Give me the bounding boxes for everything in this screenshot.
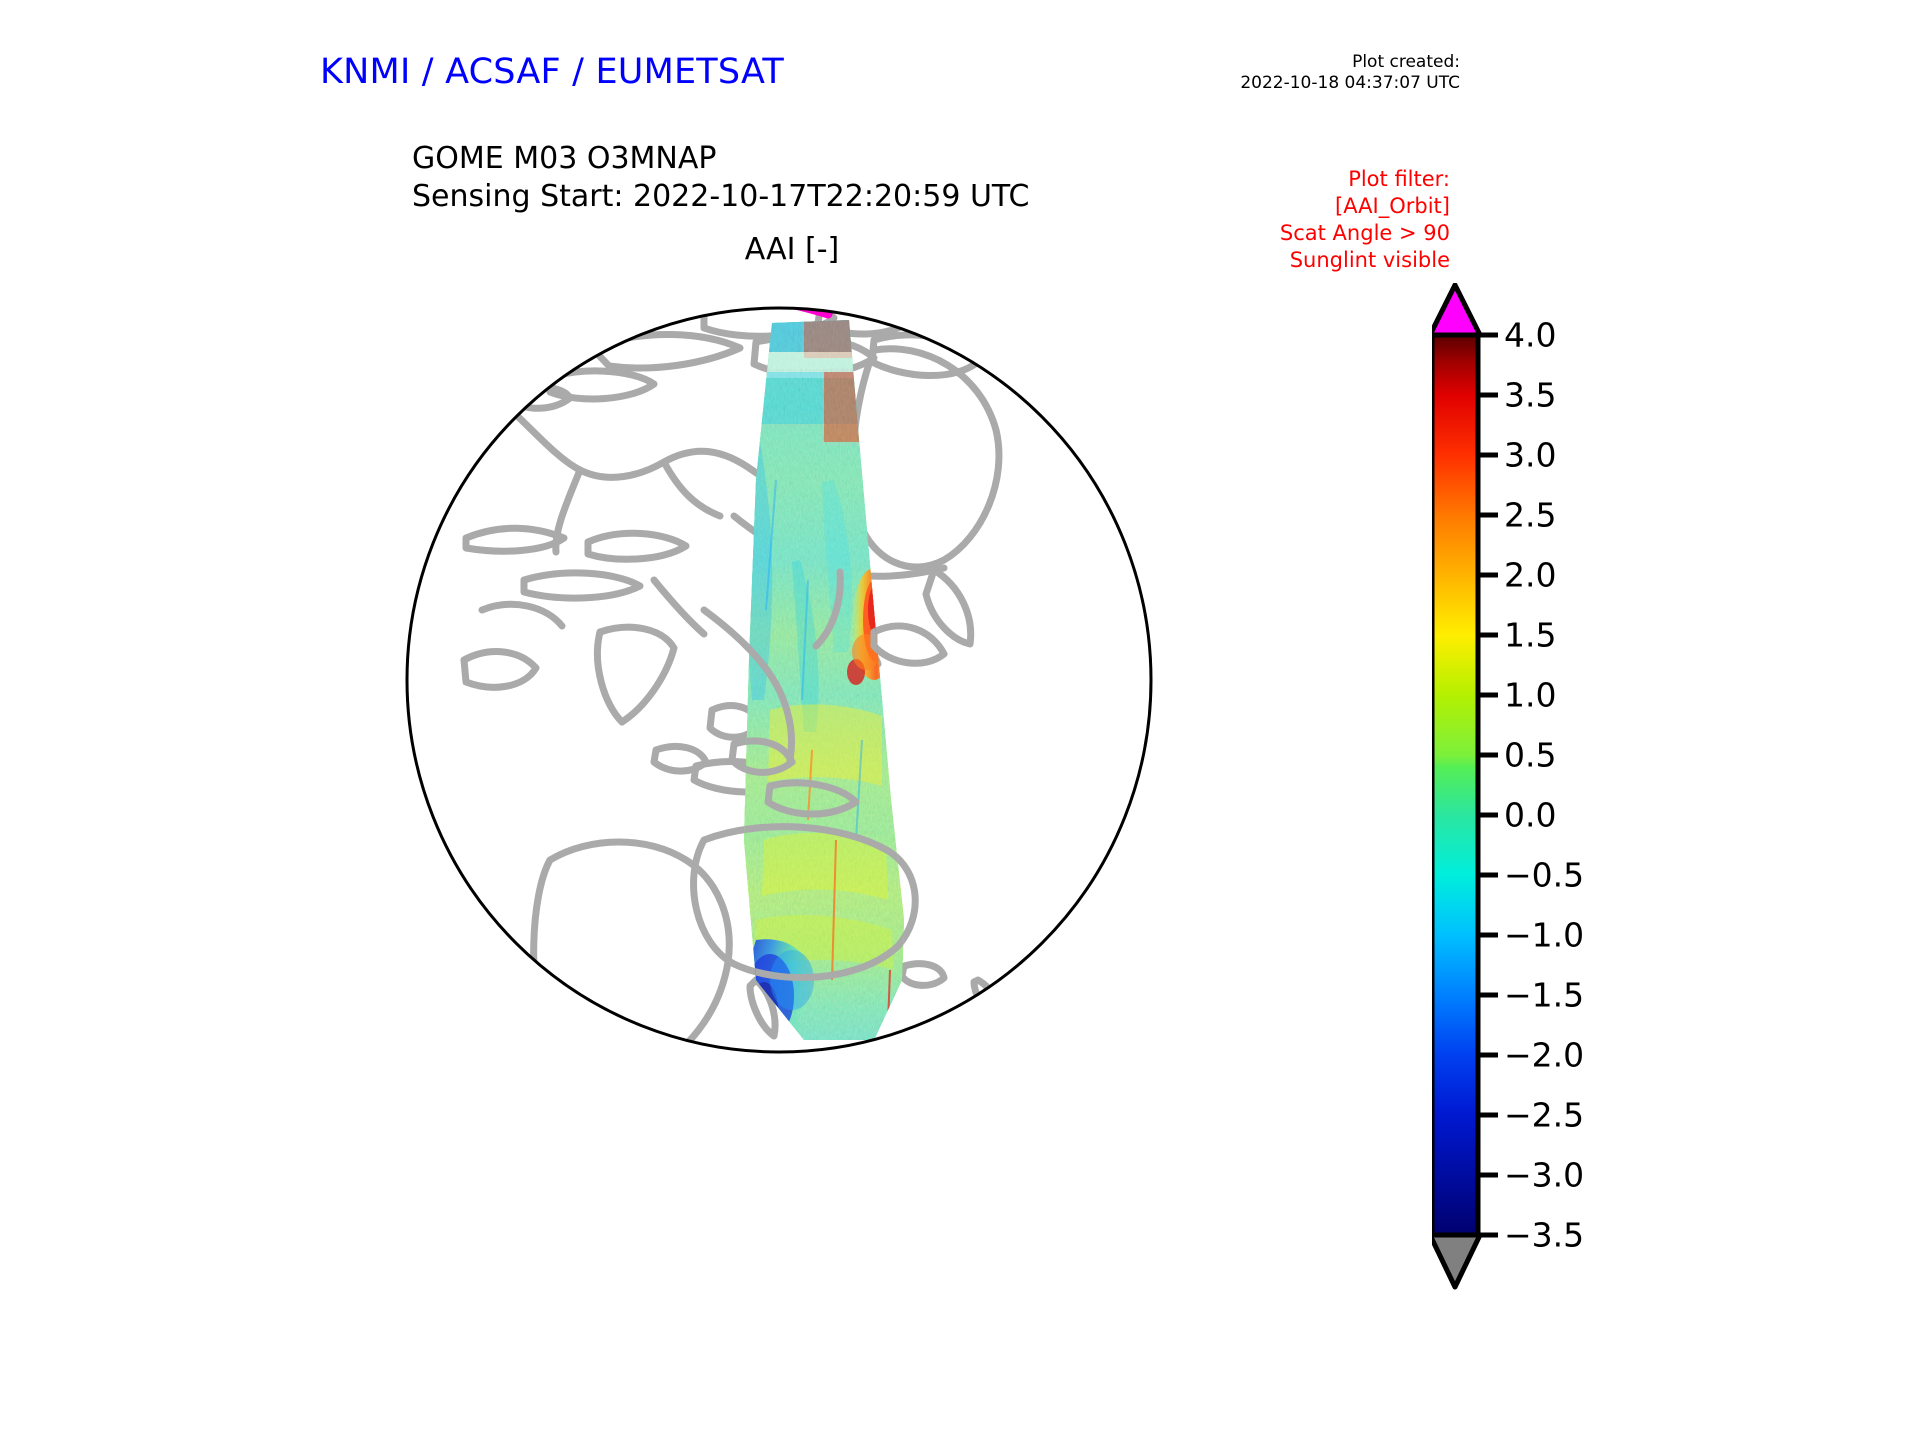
colorbar-tick-label: −3.0 [1504, 1156, 1584, 1195]
colorbar-tick-label: 0.5 [1504, 736, 1556, 775]
colorbar-svg [1432, 283, 1852, 1323]
plot-created-timestamp: 2022-10-18 04:37:07 UTC [1240, 73, 1460, 94]
colorbar-over-arrow [1432, 285, 1480, 335]
sensing-start-line: Sensing Start: 2022-10-17T22:20:59 UTC [412, 178, 1029, 216]
colorbar-gradient [1432, 335, 1478, 1235]
colorbar-tick-label: −3.5 [1504, 1216, 1584, 1255]
colorbar-ticks [1478, 335, 1498, 1235]
colorbar-tick-label: −1.5 [1504, 976, 1584, 1015]
colorbar-tick-label: 4.0 [1504, 316, 1556, 355]
colorbar-tick-label: 1.0 [1504, 676, 1556, 715]
variable-title: AAI [-] [412, 232, 1172, 267]
globe-svg [404, 280, 1404, 1360]
colorbar-tick-label: 1.5 [1504, 616, 1556, 655]
colorbar-tick-label: 2.0 [1504, 556, 1556, 595]
colorbar-tick-label: 3.5 [1504, 376, 1556, 415]
plot-created-block: Plot created: 2022-10-18 04:37:07 UTC [1240, 52, 1460, 95]
filter-line-4: Sunglint visible [1280, 247, 1450, 274]
plot-filter-block: Plot filter: [AAI_Orbit] Scat Angle > 90… [1280, 166, 1450, 274]
plot-created-label: Plot created: [1240, 52, 1460, 73]
colorbar-tick-label: 2.5 [1504, 496, 1556, 535]
colorbar-under-arrow [1432, 1235, 1480, 1287]
colorbar: 4.0 3.5 3.0 2.5 2.0 1.5 1.0 0.5 0.0 −0.5… [1432, 283, 1852, 1323]
colorbar-tick-label: −2.5 [1504, 1096, 1584, 1135]
page-title: KNMI / ACSAF / EUMETSAT [0, 52, 1104, 92]
colorbar-tick-label: 0.0 [1504, 796, 1556, 835]
instrument-line: GOME M03 O3MNAP [412, 140, 1029, 178]
product-info-block: GOME M03 O3MNAP Sensing Start: 2022-10-1… [412, 140, 1029, 217]
filter-line-2: [AAI_Orbit] [1280, 193, 1450, 220]
filter-line-1: Plot filter: [1280, 166, 1450, 193]
colorbar-tick-label: −2.0 [1504, 1036, 1584, 1075]
colorbar-tick-label: 3.0 [1504, 436, 1556, 475]
filter-line-3: Scat Angle > 90 [1280, 220, 1450, 247]
colorbar-tick-label: −0.5 [1504, 856, 1584, 895]
globe-map [404, 280, 1404, 1360]
colorbar-tick-label: −1.0 [1504, 916, 1584, 955]
